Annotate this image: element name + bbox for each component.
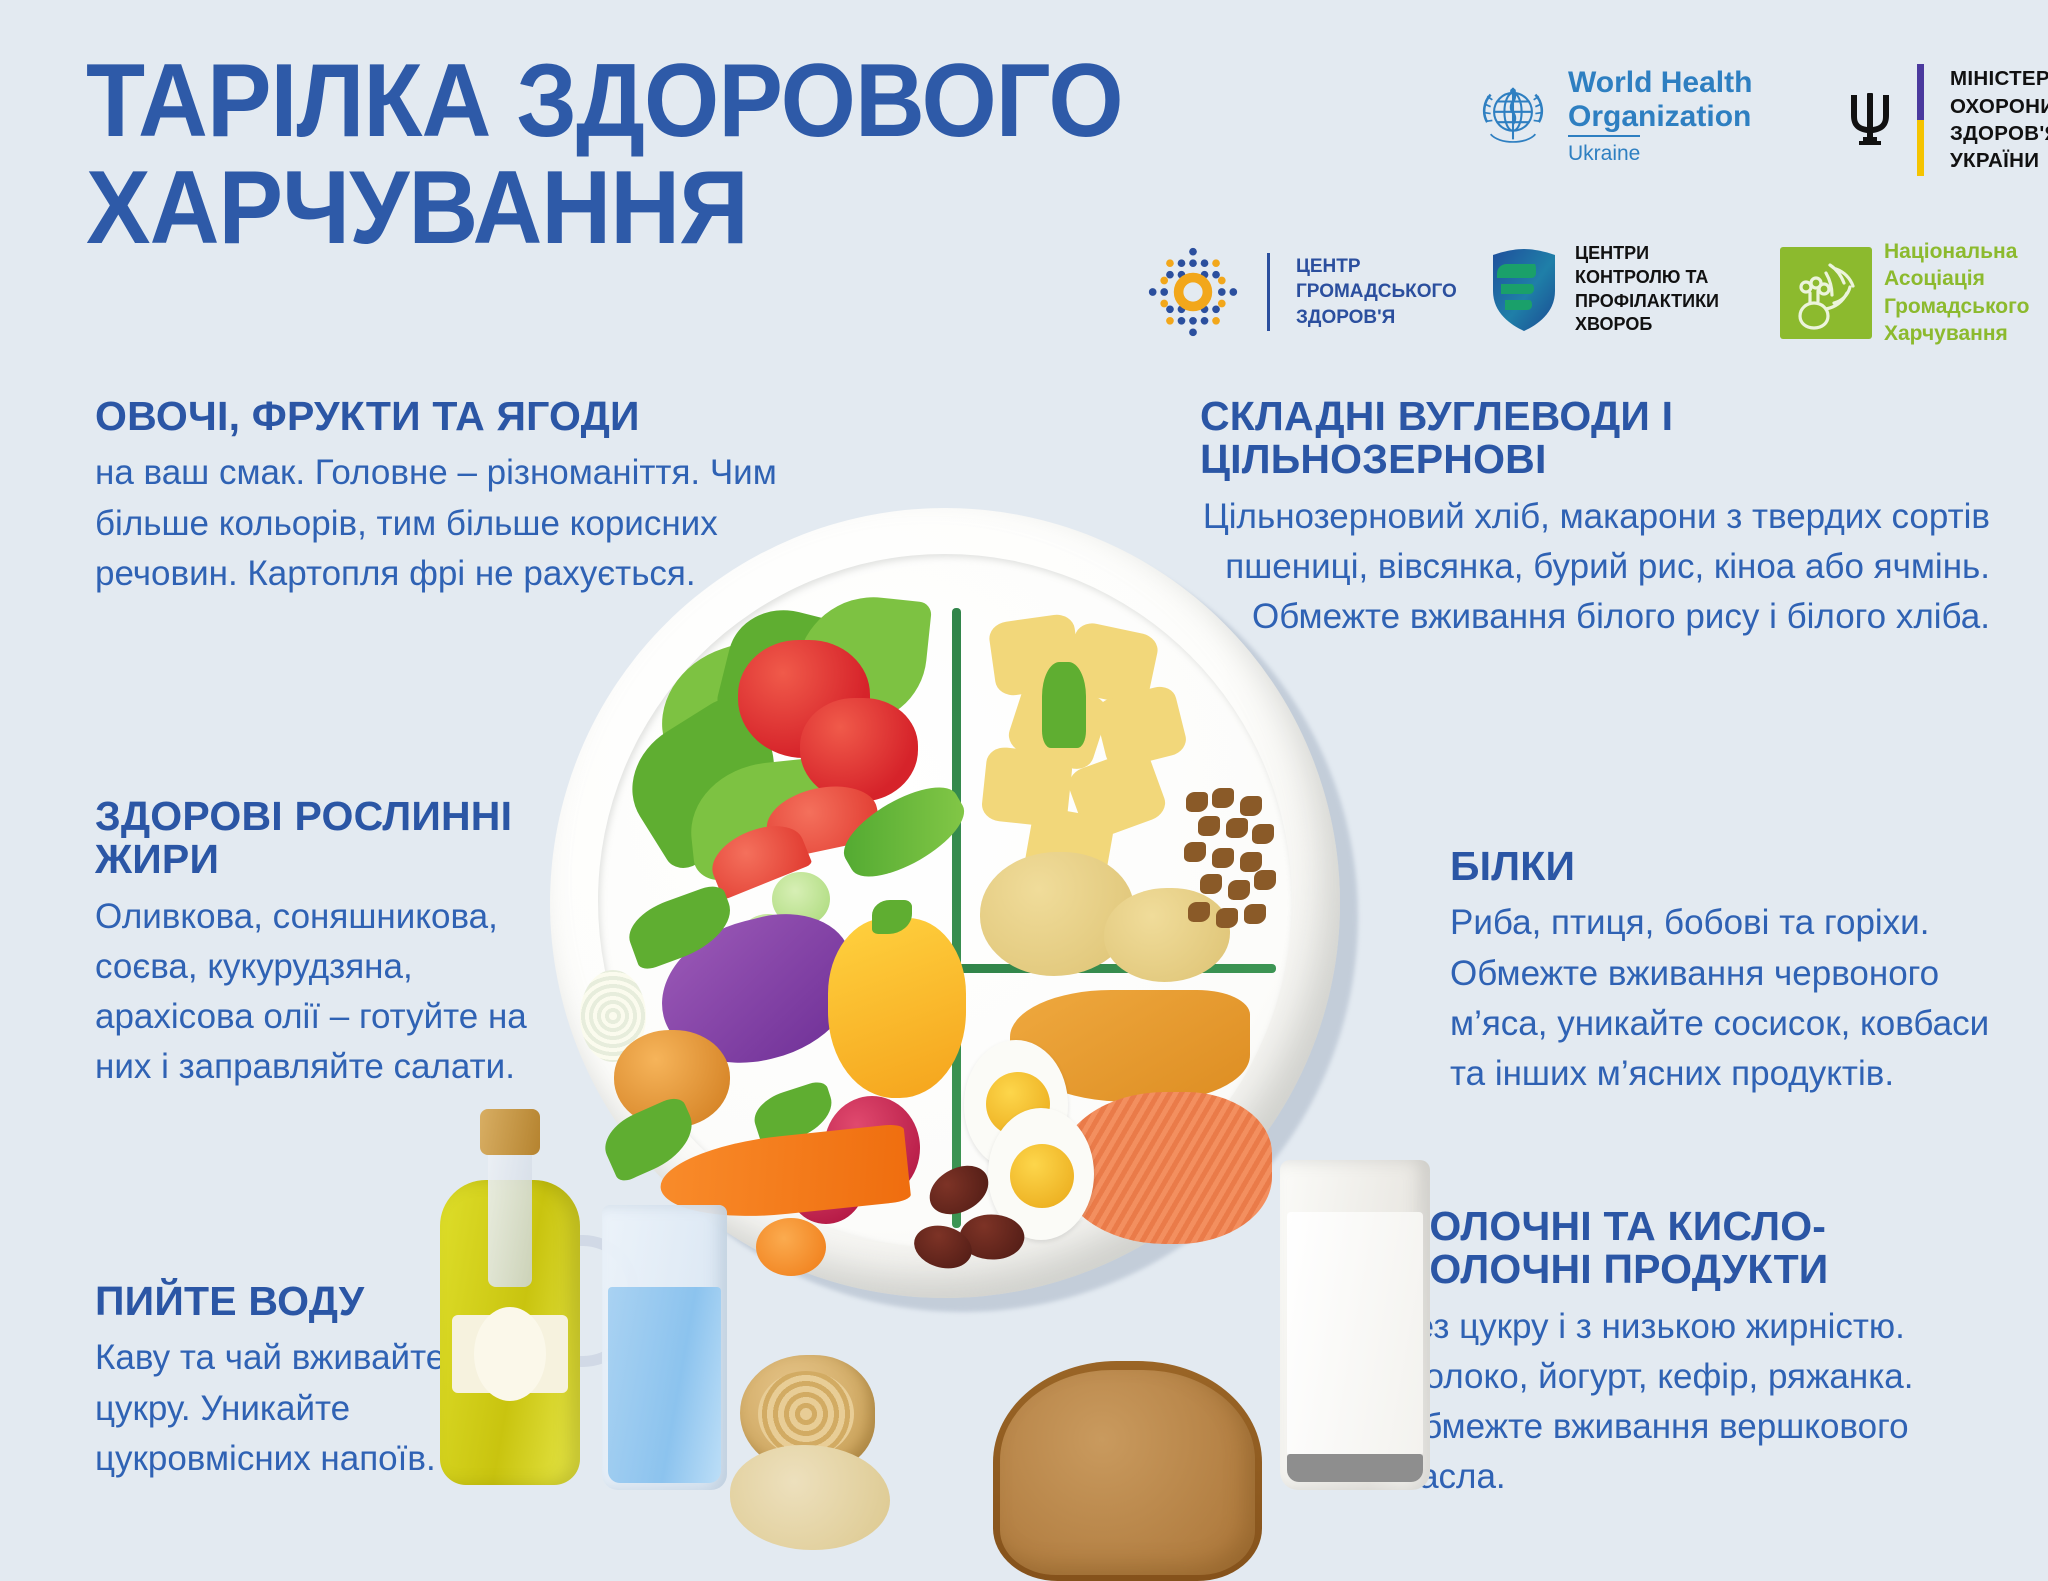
who-logo-text: World Health Organization Ukraine [1568,66,1752,169]
moz-line-4: УКРАЇНИ [1950,147,2048,174]
buckwheat-grain-icon [1184,842,1206,862]
nagh-line-3: Громадського [1884,293,2029,320]
nagh-logo-text: Національна Асоціація Громадського Харчу… [1884,238,2029,347]
water-fill [608,1287,721,1483]
section-dairy: МОЛОЧНІ ТА КИСЛО-МОЛОЧНІ ПРОДУКТИ без цу… [1395,1205,2015,1502]
moz-logo-text: МІНІСТЕРСТВО ОХОРОНИ ЗДОРОВ'Я УКРАЇНИ [1950,65,2048,175]
ministry-of-health-logo: МІНІСТЕРСТВО ОХОРОНИ ЗДОРОВ'Я УКРАЇНИ [1845,64,2048,176]
bottle-cork-icon [480,1109,540,1155]
cdc-shield-icon [1485,246,1563,334]
glass-of-water [602,1205,727,1490]
buckwheat-grain-icon [1228,880,1250,900]
trident-icon [1845,89,1895,151]
page-title: ТАРІЛКА ЗДОРОВОГО ХАРЧУВАННЯ [86,48,1063,262]
buckwheat-grain-icon [1240,852,1262,872]
buckwheat-grain-icon [1212,788,1234,808]
bottle-neck [488,1147,532,1287]
buckwheat-grain-icon [1198,816,1220,836]
section-proteins-body: Риба, птиця, бобові та горіхи. Обмежте в… [1450,898,1990,1098]
whole-grain-bread-slice [1000,1370,1255,1575]
infographic-canvas: ТАРІЛКА ЗДОРОВОГО ХАРЧУВАННЯ [0,0,2048,1576]
section-dairy-heading: МОЛОЧНІ ТА КИСЛО-МОЛОЧНІ ПРОДУКТИ [1395,1205,2015,1292]
milk-fill [1287,1212,1423,1456]
buckwheat-grain-icon [1200,874,1222,894]
cdc-line-1: ЦЕНТРИ [1575,242,1719,266]
milk-glass-base [1287,1454,1423,1482]
buckwheat-grain-icon [1254,870,1276,890]
section-dairy-body: без цукру і з низькою жирністю. Молоко, … [1395,1302,2015,1502]
moz-line-1: МІНІСТЕРСТВО [1950,65,2048,92]
section-healthy-fats-body: Оливкова, соняшникова, соєва, кукурудзян… [95,892,565,1092]
buckwheat-grain-icon [1240,796,1262,816]
phc-dots-emblem-icon [1145,244,1241,340]
section-healthy-fats: ЗДОРОВІ РОСЛИННІ ЖИРИ Оливкова, соняшник… [95,795,565,1092]
healthy-eating-plate-illustration [540,500,1400,1576]
section-proteins-heading: БІЛКИ [1450,845,1990,888]
phc-line-1: ЦЕНТР [1296,254,1457,279]
public-health-center-logo: ЦЕНТР ГРОМАДСЬКОГО ЗДОРОВ'Я [1145,244,1457,340]
egg-yolk-icon [1010,1144,1074,1208]
who-line-1: World Health [1568,66,1752,100]
who-country: Ukraine [1568,135,1640,165]
olive-oil-bottle [440,1085,580,1485]
who-emblem-icon [1470,74,1556,160]
buckwheat-grain-icon [1216,908,1238,928]
glass-of-milk [1280,1160,1430,1490]
section-healthy-fats-heading: ЗДОРОВІ РОСЛИННІ ЖИРИ [95,795,565,882]
buckwheat-grain-icon [1212,848,1234,868]
section-proteins: БІЛКИ Риба, птиця, бобові та горіхи. Обм… [1450,845,1990,1099]
phc-logo-text: ЦЕНТР ГРОМАДСЬКОГО ЗДОРОВ'Я [1296,254,1457,330]
buckwheat-grain-icon [1252,824,1274,844]
cdc-line-4: ХВОРОБ [1575,313,1719,337]
buckwheat-grain-icon [1188,902,1210,922]
tomato-icon [800,698,918,802]
title-line-2: ХАРЧУВАННЯ [86,155,1063,262]
section-complex-carbs-heading: СКЛАДНІ ВУГЛЕВОДИ І ЦІЛЬНОЗЕРНОВІ [1200,395,1990,482]
moz-line-3: ЗДОРОВ'Я [1950,120,2048,147]
nagh-line-1: Національна [1884,238,2029,265]
phc-divider-bar [1267,253,1270,331]
nagh-line-2: Асоціація [1884,265,2029,292]
nagh-vegetables-square-icon [1780,247,1872,339]
arugula-sprig-icon [1042,662,1086,748]
cdc-logo: ЦЕНТРИ КОНТРОЛЮ ТА ПРОФІЛАКТИКИ ХВОРОБ [1485,242,1719,337]
buckwheat-grain-icon [1186,792,1208,812]
phc-line-3: ЗДОРОВ'Я [1296,305,1457,330]
carrot-slice-icon [756,1218,826,1276]
seeds-cluster-icon [730,1445,890,1550]
phc-line-2: ГРОМАДСЬКОГО [1296,279,1457,304]
who-logo: World Health Organization Ukraine [1470,66,1752,169]
buckwheat-grain-icon [1226,818,1248,838]
who-line-2: Organization [1568,100,1752,134]
logo-bar: World Health Organization Ukraine [1140,56,2020,356]
section-vegetables-heading: ОВОЧІ, ФРУКТИ ТА ЯГОДИ [95,395,815,438]
plate-vertical-divider [952,608,961,1228]
national-catering-association-logo: Національна Асоціація Громадського Харчу… [1780,238,2029,347]
moz-line-2: ОХОРОНИ [1950,93,2048,120]
bell-pepper-icon [828,918,966,1098]
title-line-1: ТАРІЛКА ЗДОРОВОГО [86,48,1063,155]
buckwheat-grain-icon [1244,904,1266,924]
nagh-line-4: Харчування [1884,320,2029,347]
bottle-label-oval [474,1307,546,1401]
bread-crust [993,1361,1262,1581]
cdc-line-2: КОНТРОЛЮ ТА [1575,266,1719,290]
cdc-line-3: ПРОФІЛАКТИКИ [1575,290,1719,314]
cdc-logo-text: ЦЕНТРИ КОНТРОЛЮ ТА ПРОФІЛАКТИКИ ХВОРОБ [1575,242,1719,337]
moz-divider-bar [1917,64,1924,176]
